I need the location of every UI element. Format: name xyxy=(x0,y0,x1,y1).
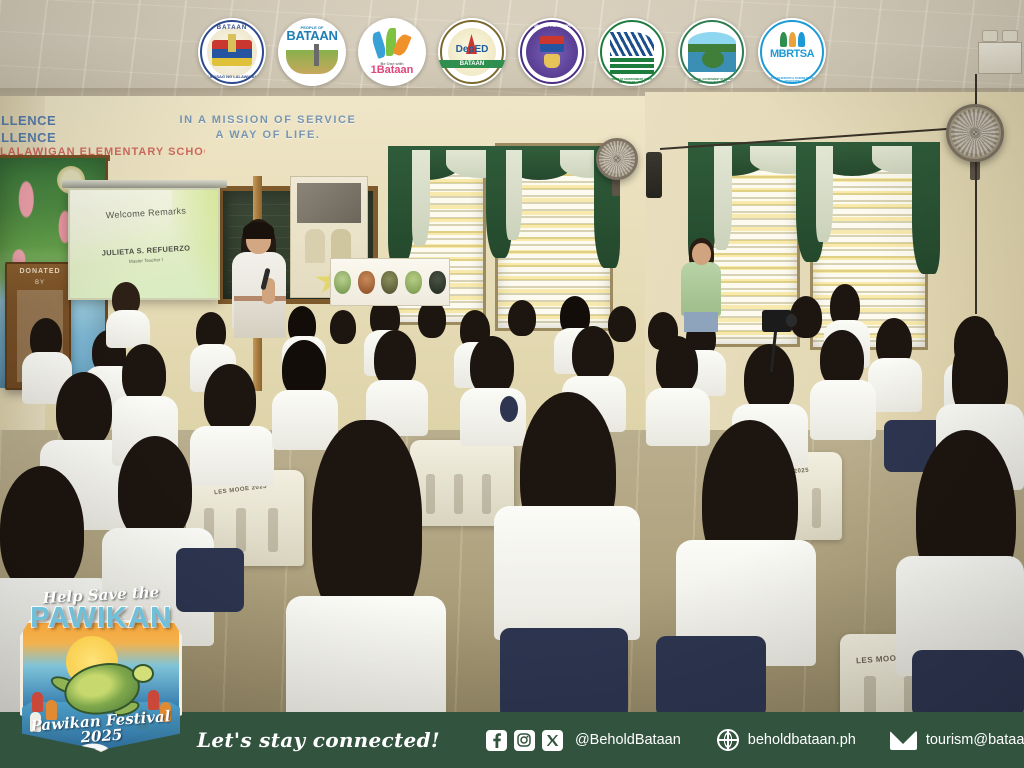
student-head xyxy=(470,336,514,396)
screenshot-root: ELLENCE ELLENCE LALAWIGAN ELEMENTARY SCH… xyxy=(0,0,1024,768)
website-group[interactable]: beholdbataan.ph xyxy=(717,729,856,751)
wall-text-mission: IN A MISSION OF SERVICE A WAY OF LIFE. xyxy=(148,113,388,155)
wall-fan-right xyxy=(946,104,1004,162)
student-body xyxy=(190,426,274,486)
student-head xyxy=(656,336,698,394)
social-icon-group xyxy=(486,730,563,751)
logo-label: DepED xyxy=(438,46,506,54)
logo-sublabel: MORONG BATAAN RESORTS & TOURISM STAKEHOL… xyxy=(758,78,826,84)
turtle-icon-hawksbill xyxy=(358,271,375,294)
student-head xyxy=(118,436,192,542)
logo-penro-bataan: PROVINCIAL GOVERNMENT OF BATAAN — ENVIRO… xyxy=(678,18,746,86)
wall-text-excellence-line2: ELLENCE xyxy=(0,129,112,146)
email-group[interactable]: tourism@bataan.gov.ph xyxy=(890,731,1024,750)
logo-deped-bataan: DepED BATAAN xyxy=(438,18,506,86)
logo-denr: DEPARTMENT OF ENVIRONMENT AND NATURAL RE… xyxy=(598,18,666,86)
poster-image-top xyxy=(297,183,361,223)
speaker-skirt xyxy=(234,300,286,338)
logo-sublabel: SAGISAG NG LALAWIGAN xyxy=(198,73,266,81)
instagram-icon[interactable] xyxy=(514,730,535,751)
speaker-hair-front xyxy=(243,222,274,239)
turtle-icon-leatherback xyxy=(429,271,446,294)
student-head xyxy=(330,310,356,344)
wall-text-excellence-line1: ELLENCE xyxy=(0,112,112,129)
student-head xyxy=(508,300,536,336)
website-url[interactable]: beholdbataan.ph xyxy=(748,732,856,748)
student-head xyxy=(122,344,166,404)
logo-sublabel: BATAAN xyxy=(438,60,506,68)
sea-turtle-species-poster xyxy=(330,258,450,306)
student-body xyxy=(494,506,640,640)
turtle-head-graphic xyxy=(132,664,154,683)
standing-woman-body xyxy=(681,262,721,316)
turtle-icon-olive-ridley xyxy=(381,271,398,294)
wall-fan-left-mount xyxy=(612,178,620,196)
pawikan-festival-badge: Help Save the PAWIKAN Pawikan Festival 2… xyxy=(8,586,194,762)
student-head xyxy=(56,372,112,448)
student-body xyxy=(868,358,922,412)
student-body xyxy=(646,388,710,446)
podium-text-by: BY xyxy=(7,280,73,286)
logo-sublabel: DEPARTMENT OF ENVIRONMENT AND NATURAL RE… xyxy=(598,78,666,84)
student-body xyxy=(286,596,446,718)
social-handle[interactable]: @BeholdBataan xyxy=(575,732,681,748)
curtain-rod-left xyxy=(388,146,620,150)
logo-mbrtsa: MBRTSA MORONG BATAAN RESORTS & TOURISM S… xyxy=(758,18,826,86)
student-body xyxy=(106,310,150,348)
poster-figure-left xyxy=(305,229,325,263)
logo-one-bataan: Be One with 1Bataan xyxy=(358,18,426,86)
turtle-icon-loggerhead xyxy=(405,271,422,294)
logo-sublabel: PROVINCIAL GOVERNMENT OF BATAAN — ENVIRO… xyxy=(678,78,746,84)
student-shorts xyxy=(912,650,1024,718)
wall-text-excellence: ELLENCE ELLENCE xyxy=(0,112,112,146)
student-skirt xyxy=(656,636,766,718)
turtle-icon-green xyxy=(334,271,351,294)
student-head xyxy=(0,466,84,594)
wall-text-mission-line2: A WAY OF LIFE. xyxy=(148,128,388,143)
standing-woman-jeans xyxy=(684,312,718,332)
partner-logo-row: BATAAN SAGISAG NG LALAWIGAN PEOPLE OF BA… xyxy=(0,16,1024,88)
curtain-set-left xyxy=(388,146,620,276)
student-head xyxy=(572,326,614,382)
student-head xyxy=(608,306,636,342)
badge-main-text: PAWIKAN xyxy=(8,602,194,635)
logo-label: BATAAN xyxy=(278,32,346,40)
standing-woman-head xyxy=(692,243,711,265)
footer-tagline: Let's stay connected! xyxy=(197,728,440,752)
podium-text-donated: DONATED xyxy=(7,268,73,275)
projection-screen: Welcome Remarks JULIETA S. REFUERZO Mast… xyxy=(68,188,220,300)
logo-label: 1Bataan xyxy=(358,66,426,74)
wall-text-mission-line1: IN A MISSION OF SERVICE xyxy=(148,113,388,128)
student-skirt xyxy=(500,628,628,718)
email-address[interactable]: tourism@bataan.gov.ph xyxy=(926,732,1024,748)
facebook-icon[interactable] xyxy=(486,730,507,751)
globe-icon xyxy=(717,729,739,751)
student-head xyxy=(204,364,256,434)
kid-figure xyxy=(32,692,43,712)
logo-bataan-provincial-seal: BATAAN SAGISAG NG LALAWIGAN xyxy=(198,18,266,86)
student-face-mask xyxy=(500,396,518,422)
wall-speaker xyxy=(646,152,662,198)
curtain-set-right xyxy=(688,142,940,282)
projector-screen-roller xyxy=(62,180,227,188)
x-twitter-icon[interactable] xyxy=(542,730,563,751)
logo-label: MBRTSA xyxy=(758,50,826,58)
envelope-icon xyxy=(890,731,917,750)
student-body xyxy=(810,380,876,440)
speaker-belt xyxy=(234,296,286,301)
camera-lens xyxy=(786,314,797,327)
logo-people-of-bataan: PEOPLE OF BATAAN xyxy=(278,18,346,86)
wall-fan-left xyxy=(596,138,638,180)
student-body xyxy=(272,390,338,450)
logo-department-of-education: REPUBLIC OF THE PHILIPPINES xyxy=(518,18,586,86)
logo-sublabel: REPUBLIC OF THE PHILIPPINES xyxy=(518,22,586,30)
logo-label: BATAAN xyxy=(198,24,266,32)
